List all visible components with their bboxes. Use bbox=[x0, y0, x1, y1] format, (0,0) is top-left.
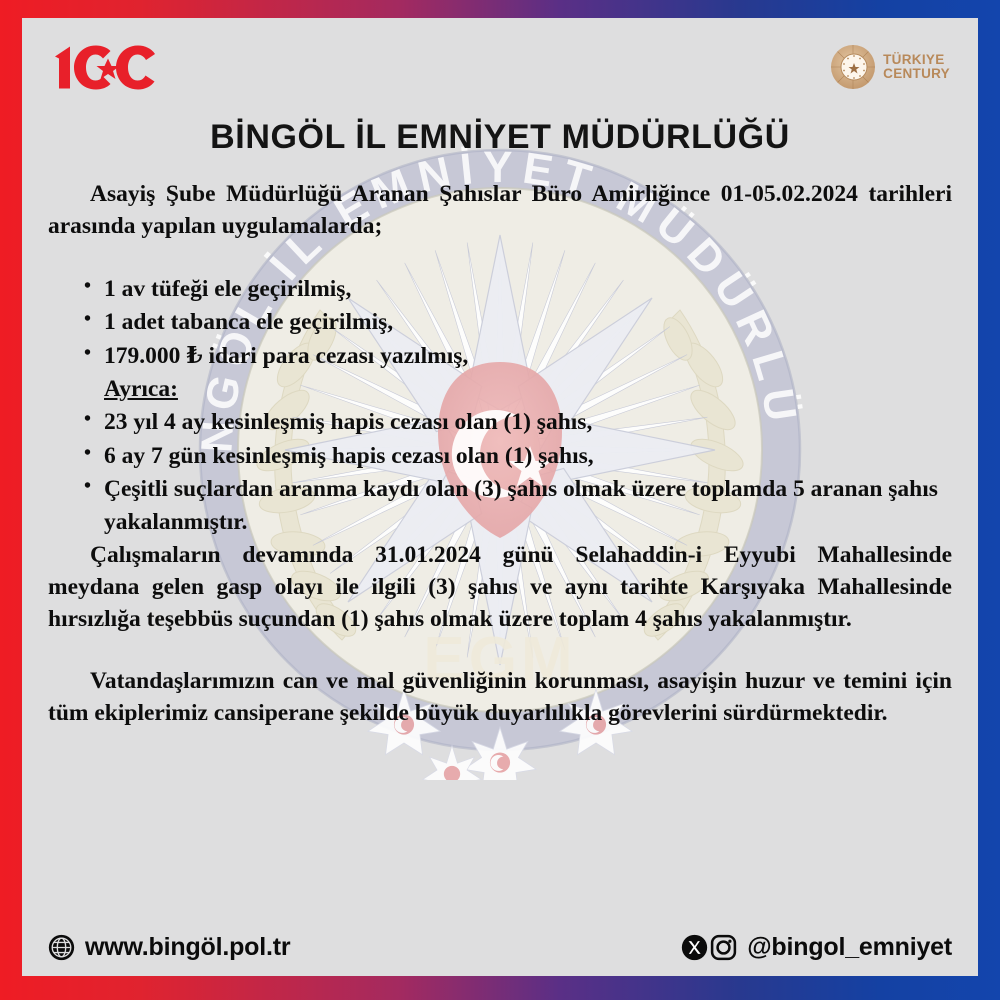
website-link[interactable]: www.bingöl.pol.tr bbox=[48, 933, 290, 962]
x-twitter-icon[interactable] bbox=[681, 934, 708, 961]
list-item: 179.000 ₺ idari para cezası yazılmış, bbox=[82, 340, 952, 373]
third-paragraph: Vatandaşlarımızın can ve mal güvenliğini… bbox=[48, 666, 952, 730]
century-line-2: CENTURY bbox=[883, 67, 950, 81]
announcement-body: Asayiş Şube Müdürlüğü Aranan Şahıslar Bü… bbox=[22, 157, 978, 730]
website-text: www.bingöl.pol.tr bbox=[85, 933, 290, 962]
poster-frame: BİNGÖL İL EMNİYET MÜDÜRLÜĞÜ bbox=[0, 0, 1000, 1000]
poster-card: BİNGÖL İL EMNİYET MÜDÜRLÜĞÜ bbox=[22, 18, 978, 976]
second-paragraph: Çalışmaların devamında 31.01.2024 günü S… bbox=[48, 540, 952, 636]
ayrica-text: Ayrıca: bbox=[104, 376, 178, 402]
ayrica-label: Ayrıca: bbox=[82, 373, 952, 406]
100-yil-logo bbox=[50, 39, 160, 95]
century-line-1: TÜRKIYE bbox=[883, 53, 950, 67]
intro-paragraph: Asayiş Şube Müdürlüğü Aranan Şahıslar Bü… bbox=[48, 179, 952, 243]
list-item: 1 av tüfeği ele geçirilmiş, bbox=[82, 273, 952, 306]
century-emblem-icon bbox=[828, 42, 878, 92]
seizure-list: 1 av tüfeği ele geçirilmiş, 1 adet taban… bbox=[48, 273, 952, 540]
turkiye-century-logo: TÜRKIYE CENTURY bbox=[828, 39, 950, 95]
header-row: TÜRKIYE CENTURY bbox=[22, 18, 978, 104]
list-item: 1 adet tabanca ele geçirilmiş, bbox=[82, 306, 952, 339]
instagram-icon[interactable] bbox=[710, 934, 737, 961]
footer: www.bingöl.pol.tr bbox=[22, 933, 978, 962]
page-title: BİNGÖL İL EMNİYET MÜDÜRLÜĞÜ bbox=[22, 118, 978, 157]
globe-icon bbox=[48, 934, 75, 961]
social-handle[interactable]: @bingol_emniyet bbox=[681, 933, 952, 962]
list-item: 23 yıl 4 ay kesinleşmiş hapis cezası ola… bbox=[82, 406, 952, 439]
list-item: 6 ay 7 gün kesinleşmiş hapis cezası olan… bbox=[82, 440, 952, 473]
social-handle-text: @bingol_emniyet bbox=[747, 933, 952, 962]
social-icons bbox=[681, 934, 737, 961]
list-item: Çeşitli suçlardan aranma kaydı olan (3) … bbox=[82, 473, 952, 540]
